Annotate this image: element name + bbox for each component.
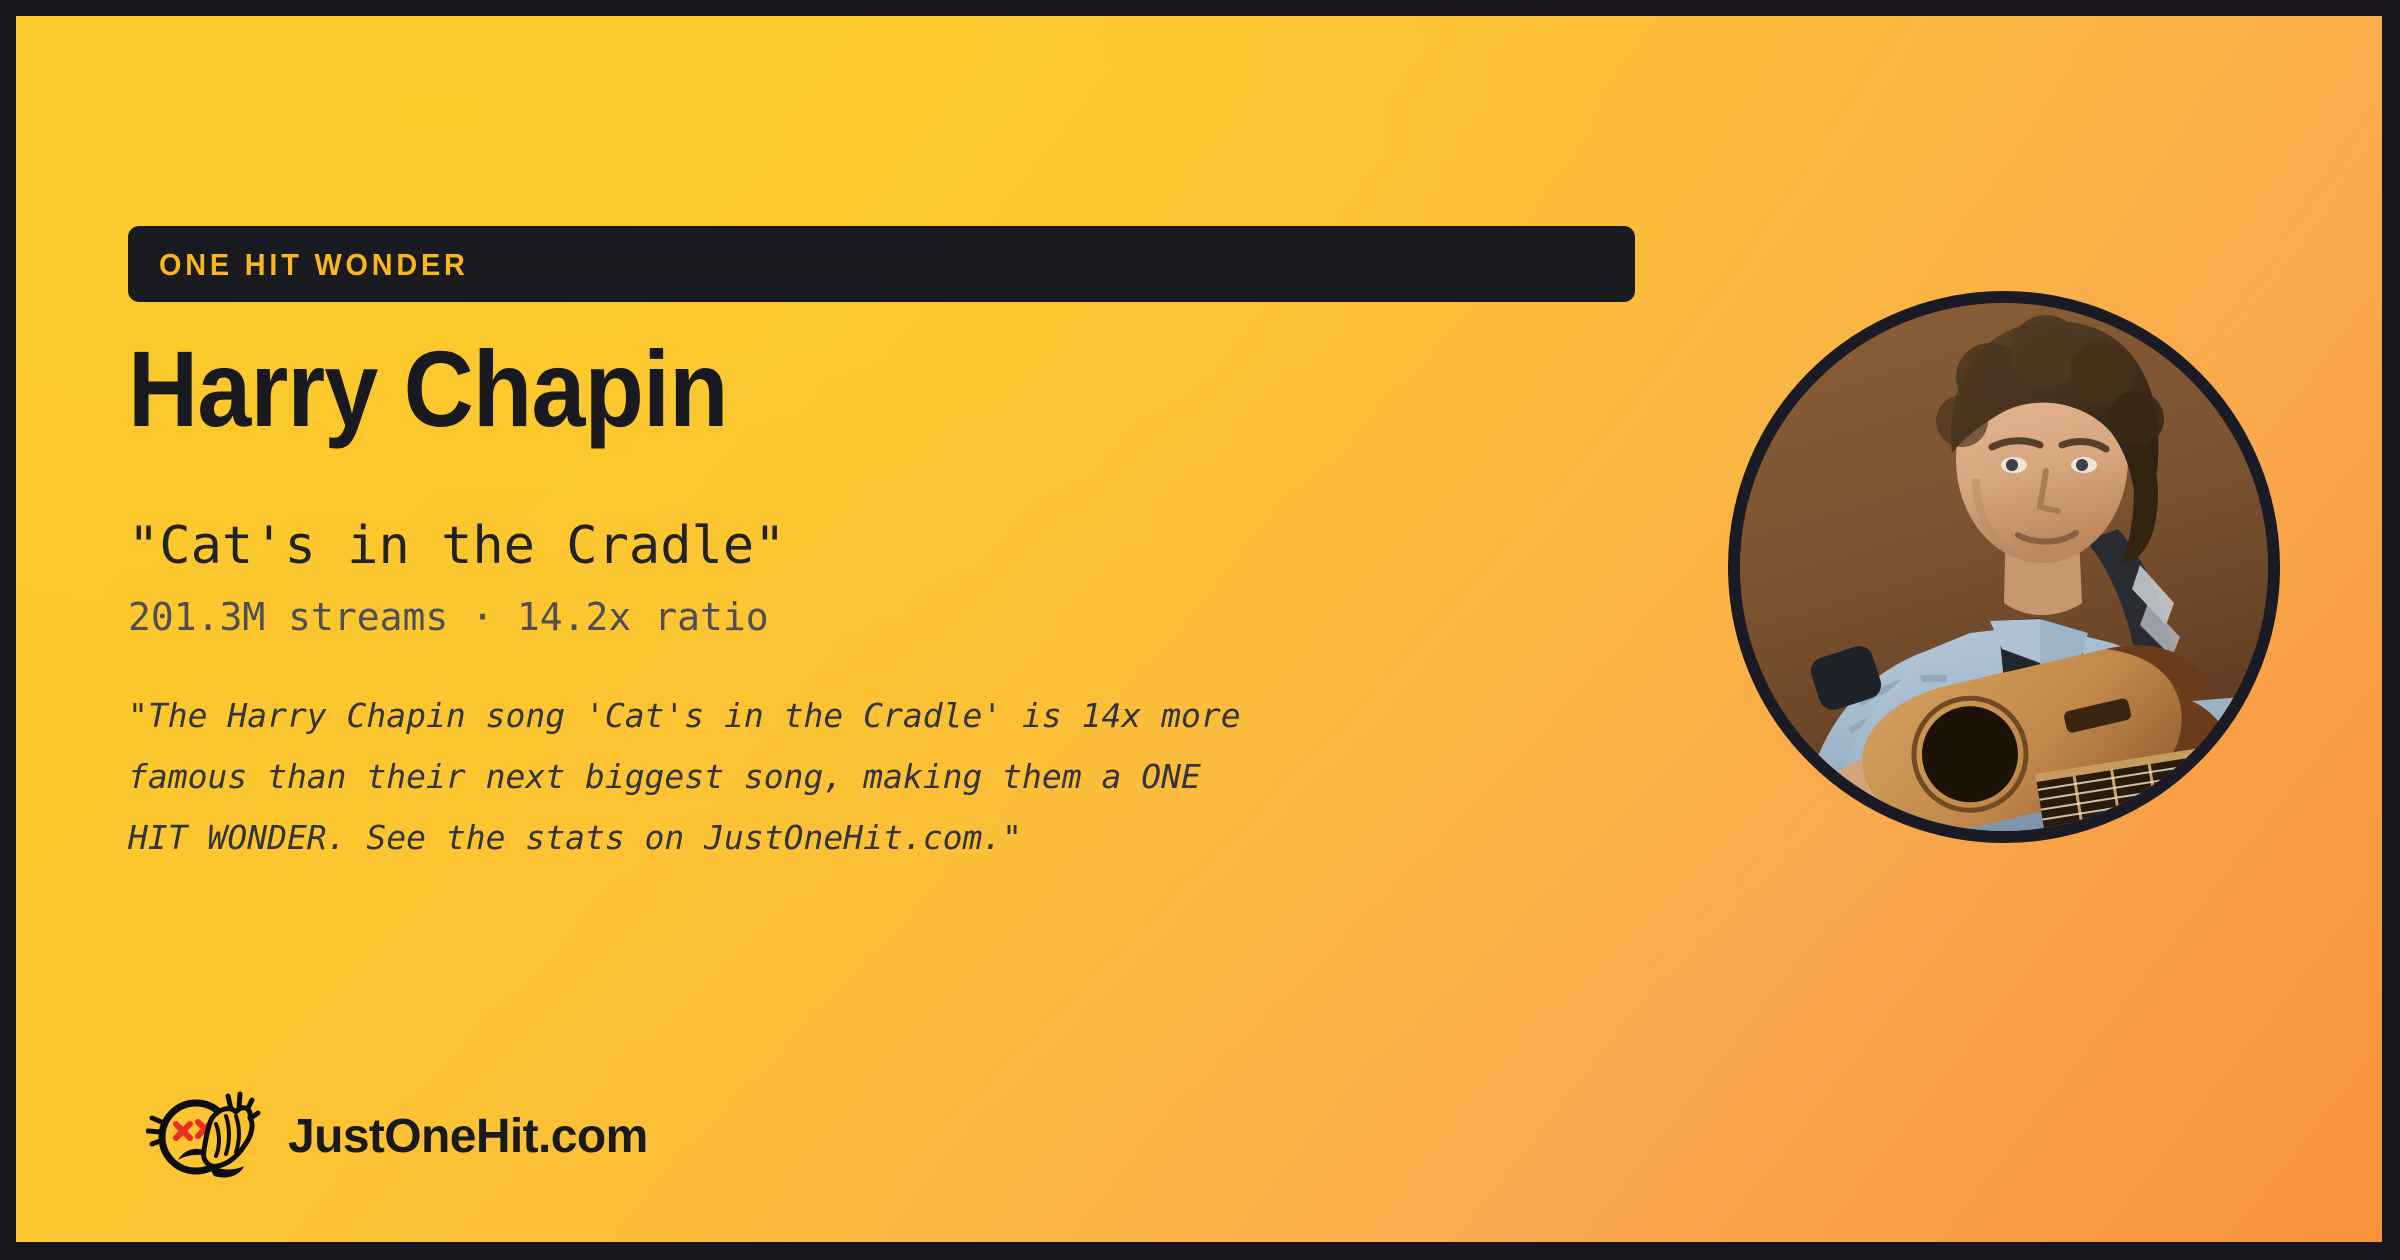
quote-line: "The Harry Chapin song 'Cat's in the Cra…: [128, 685, 1608, 746]
footer-logo[interactable]: JustOneHit.com: [146, 1084, 648, 1190]
content-column: ONE HIT WONDER Harry Chapin "Cat's in th…: [128, 226, 1648, 868]
artist-photo: [1728, 291, 2280, 843]
facepalm-icon: [146, 1084, 262, 1190]
artist-name: Harry Chapin: [128, 332, 1496, 445]
badge-label: ONE HIT WONDER: [159, 249, 469, 280]
card-surface: ONE HIT WONDER Harry Chapin "Cat's in th…: [16, 16, 2382, 1242]
song-title: "Cat's in the Cradle": [128, 518, 1648, 575]
quote-block: "The Harry Chapin song 'Cat's in the Cra…: [128, 685, 1608, 868]
one-hit-wonder-badge: ONE HIT WONDER: [128, 226, 1635, 302]
stats-line: 201.3M streams · 14.2x ratio: [128, 597, 1648, 639]
quote-line: HIT WONDER. See the stats on JustOneHit.…: [128, 807, 1608, 868]
quote-line: famous than their next biggest song, mak…: [128, 746, 1608, 807]
card-frame: ONE HIT WONDER Harry Chapin "Cat's in th…: [0, 0, 2400, 1260]
logo-wordmark: JustOneHit.com: [288, 1113, 648, 1161]
artist-photo-illustration: [1740, 303, 2268, 831]
